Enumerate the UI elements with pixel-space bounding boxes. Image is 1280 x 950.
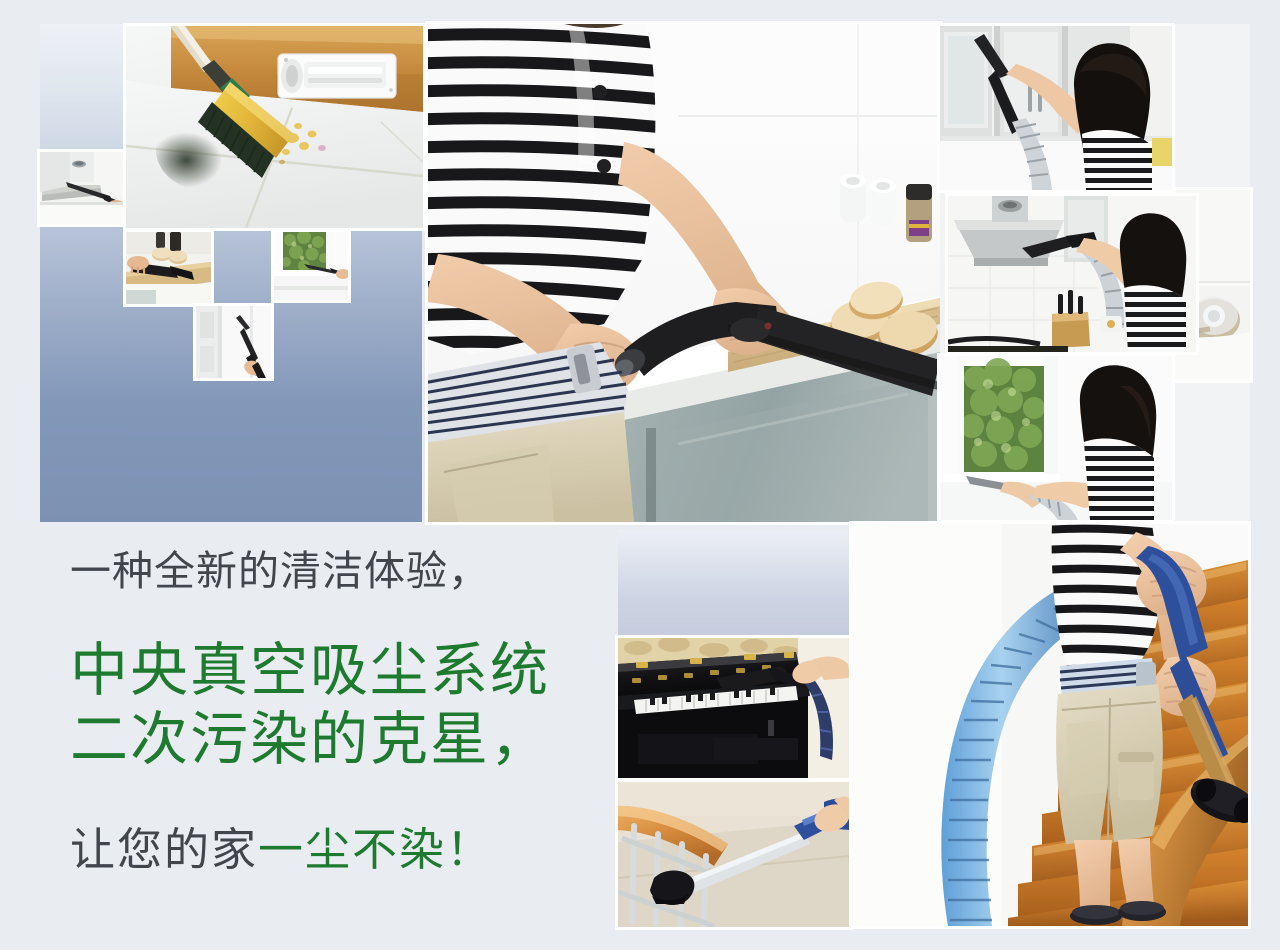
range-hood-vacuum-photo [40,152,124,224]
countertop-vacuum-hero-photo [428,24,940,522]
rangehood-vacuum-photo [948,196,1196,352]
window-sill-vacuum-photo [274,232,348,300]
footer-line: 让您的家一尘不染！ [70,824,590,876]
piano-vacuum-photo [618,638,850,778]
door-panel-vacuum-photo [196,306,271,378]
footer-gray-text: 让您的家 [70,824,258,875]
bread-board-vacuum-photo [126,232,211,304]
stair-railing-vacuum-photo [618,782,850,927]
subhead-line: 一种全新的清洁体验， [70,548,590,595]
headline-line-2: 二次污染的克星， [70,706,590,774]
copy-spacer-top [70,595,590,637]
upper-cabinet-vacuum-photo [940,26,1172,190]
marketing-copy-block: 一种全新的清洁体验， 中央真空吸尘系统 二次污染的克星， 让您的家一尘不染！ [70,548,590,876]
broom-floor-inlet-photo [126,26,423,228]
footer-green-text: 一尘不染！ [258,824,493,875]
promo-collage-page: 一种全新的清洁体验， 中央真空吸尘系统 二次污染的克星， 让您的家一尘不染！ [0,0,1280,950]
headline-line-1: 中央真空吸尘系统 [70,637,590,705]
window-vacuum-photo [940,356,1172,520]
copy-spacer-bottom [70,774,590,824]
blue-gradient-panel-small [618,530,850,642]
staircase-vacuum-hero-photo [852,524,1248,926]
